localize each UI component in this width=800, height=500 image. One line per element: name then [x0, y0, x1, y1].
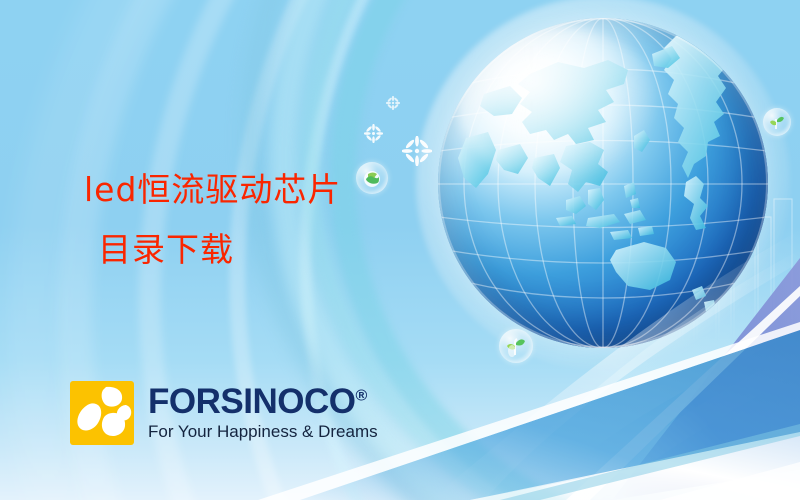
- headline-line-1: led恒流驱动芯片: [84, 170, 341, 209]
- forsinoco-pinwheel-mark: [70, 381, 134, 445]
- headline: led恒流驱动芯片 目录下载: [84, 160, 444, 280]
- globe-rim: [438, 18, 768, 348]
- flower-decoration: [386, 96, 400, 110]
- brand-name: FORSINOCO: [148, 382, 355, 421]
- pinwheel-petals-icon: [70, 381, 134, 445]
- logo-text-block: FORSINOCO® For Your Happiness & Dreams: [148, 384, 378, 442]
- globe-sphere: [438, 18, 768, 348]
- brand-name-row: FORSINOCO®: [148, 384, 378, 420]
- flower-decoration: [364, 124, 383, 143]
- brand-tagline: For Your Happiness & Dreams: [148, 422, 378, 442]
- headline-line-2: 目录下载: [84, 220, 444, 280]
- earth-globe: [438, 18, 768, 348]
- registered-trademark-symbol: ®: [355, 387, 366, 404]
- promo-banner: led恒流驱动芯片 目录下载 FORSINOCO® For Your Happi…: [0, 0, 800, 500]
- company-logo: FORSINOCO® For Your Happiness & Dreams: [70, 381, 378, 445]
